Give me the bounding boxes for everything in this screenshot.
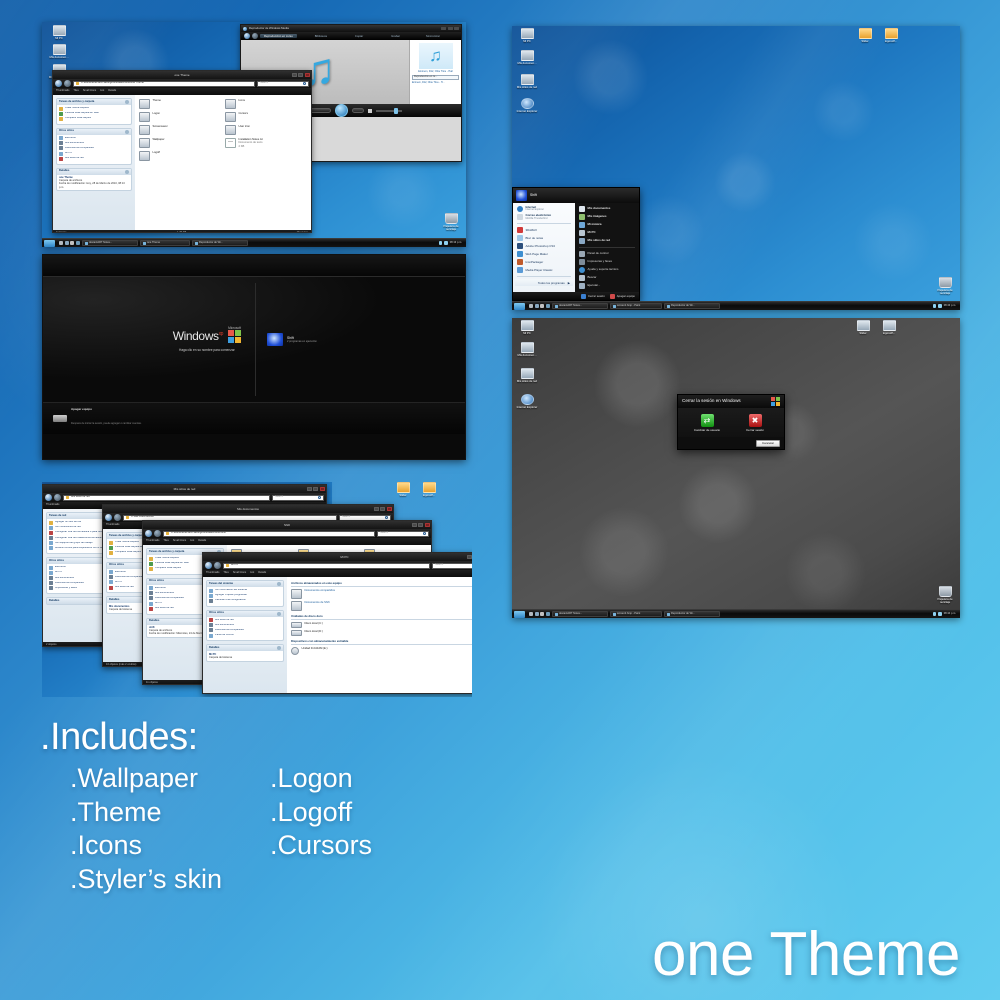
tray-icon[interactable] <box>938 612 942 616</box>
text-file-icon <box>225 138 236 148</box>
logoff-option[interactable]: ✖ Cerrar sesión <box>738 414 772 432</box>
documents-icon <box>521 50 534 61</box>
media-icon[interactable] <box>540 304 544 308</box>
logon-user-tile[interactable]: Shift 2 programas en ejecución <box>267 333 317 346</box>
tab-copiar[interactable]: Copiar <box>351 34 367 39</box>
drive-item[interactable]: Disco local (C:) <box>291 622 472 628</box>
includes-heading: .Includes: <box>40 718 372 756</box>
toolbar-tiles[interactable]: Tiles <box>223 572 228 575</box>
tab-grabar[interactable]: Grabar <box>387 34 404 39</box>
desktop-icon-mi-pc[interactable]: Mi PC <box>514 28 540 43</box>
task-item[interactable]: Ver información del sistema <box>209 589 281 593</box>
quick-launch[interactable] <box>529 304 550 308</box>
wmp-icon <box>195 242 198 245</box>
album-caption: Eminem, D12, Obie Trice - Hail <box>412 70 459 73</box>
back-icon[interactable] <box>145 530 152 537</box>
window-titlebar[interactable]: Mis documentos <box>103 505 393 513</box>
start-menu-username: Shift <box>530 194 537 197</box>
toolbar-thumbnails[interactable]: Thumbnails <box>46 504 59 507</box>
search-input[interactable]: Search <box>257 81 309 87</box>
logon-user-status: 2 programas en ejecución <box>287 340 317 343</box>
window-titlebar[interactable]: Mis sitios de red <box>43 485 326 493</box>
maximize-icon[interactable] <box>448 27 453 31</box>
folder-icon <box>397 482 410 493</box>
search-input[interactable]: Search <box>432 563 472 569</box>
start-item-web-page-maker[interactable]: Web Page Maker <box>515 250 573 258</box>
toolbar-thumbnails[interactable]: Thumbnails <box>56 90 69 93</box>
forward-icon[interactable] <box>54 494 61 501</box>
panel-title: Otros sitios <box>49 560 64 563</box>
address-bar[interactable]: Mi PC Search <box>203 561 472 570</box>
address-bar[interactable]: C:\Documents and Settings\Shift\Escritor… <box>53 79 311 88</box>
taskbar-button[interactable]: Reproductor de Wi... <box>192 240 248 246</box>
desktop-icon-internet-explorer[interactable]: Internet Explorer <box>514 98 540 113</box>
toolbar-tiles[interactable]: Tiles <box>163 540 168 543</box>
window-buttons[interactable] <box>292 73 310 77</box>
taskbar-button[interactable]: screen2.bmp - Paint <box>610 611 662 617</box>
desktop-icon-recycle-bin[interactable]: Papelera de reciclaje <box>932 277 958 295</box>
folder-icon <box>66 496 69 499</box>
search-placeholder: Search <box>435 564 443 567</box>
switch-user-option[interactable]: ⇄ Cambiar de usuario <box>690 414 724 432</box>
desktop-icon-mis-documentos[interactable]: Mis documen... <box>514 342 540 357</box>
place-item[interactable]: Documentos compartidos <box>209 628 281 632</box>
toolbar-tiles[interactable]: Tiles <box>73 90 78 93</box>
panel-title: Detalles <box>59 170 69 173</box>
toolbar-list[interactable]: List <box>250 572 254 575</box>
file-item[interactable]: Wallpaper <box>139 138 221 148</box>
maximize-icon[interactable] <box>298 73 303 77</box>
panel-title: Detalles <box>49 600 59 603</box>
taskbar[interactable]: deviantART Notes... screen2.bmp - Paint … <box>512 609 960 618</box>
tab-sincronizar[interactable]: Sincronizar <box>422 34 444 39</box>
playlist-selector[interactable]: Reproducción en cu... <box>412 75 459 80</box>
logoff-button[interactable]: Cerrar sesión <box>581 294 605 299</box>
wmp-window-buttons[interactable] <box>441 27 459 31</box>
file-item[interactable]: Screensaver <box>139 125 221 135</box>
explorer-task-pane: Tareas del sistema Ver información del s… <box>203 577 287 694</box>
start-item-ayuda-y-soporte[interactable]: Ayuda y soporte técnico <box>577 266 637 274</box>
window-title: Shift <box>284 524 290 527</box>
logoff-dialog-header: Cerrar la sesión en Windows <box>678 395 784 408</box>
task-item[interactable]: Agregar o quitar programas <box>209 594 281 598</box>
file-item[interactable]: Logon <box>139 112 221 122</box>
close-icon[interactable] <box>305 73 310 77</box>
file-label: User Icon <box>239 125 251 128</box>
window-buttons[interactable] <box>467 555 473 559</box>
back-icon[interactable] <box>244 33 250 39</box>
computer-icon <box>53 25 66 36</box>
system-tray[interactable]: 08:43 p.m. <box>933 304 958 308</box>
toolbar-small-icons[interactable]: Small Icons <box>83 90 96 93</box>
hard-disk-icon <box>291 622 302 628</box>
maximize-icon[interactable] <box>418 523 423 527</box>
start-item-3dsmax[interactable]: 3DsMAX <box>515 226 573 234</box>
taskbar-button[interactable]: deviantART Notes... <box>552 611 608 617</box>
folder-icon <box>857 320 870 331</box>
desktop-icon-recycle-bin[interactable]: Papelera de reciclaje <box>932 586 958 604</box>
address-input[interactable]: C:\Documents and Settings\Shift\Escritor… <box>163 531 375 537</box>
start-item-media-player-classic[interactable]: Media Player Classic <box>515 266 573 274</box>
back-icon[interactable] <box>45 494 52 501</box>
computer-icon <box>109 580 113 584</box>
desktop-icon-slider[interactable]: Slider <box>852 28 878 43</box>
toolbar-list[interactable]: List <box>100 90 104 93</box>
desktop-icon-mis-documentos[interactable]: Mis documen... <box>514 50 540 65</box>
panel-other-places: Otros sitios Escritorio Mis documentos D… <box>56 128 132 165</box>
file-item[interactable]: Theme <box>139 99 221 109</box>
collapse-icon[interactable] <box>277 612 281 616</box>
file-label: Logon <box>153 112 160 115</box>
taskbar-button[interactable]: deviantART Notes... <box>82 240 138 246</box>
tab-reproduccion-en-curso[interactable]: Reproducción en curso <box>260 34 297 39</box>
ie-icon[interactable] <box>535 304 539 308</box>
address-bar[interactable]: Mis sitios de red Search <box>43 493 326 502</box>
wmp-tabbar[interactable]: Reproducción en curso Biblioteca Copiar … <box>241 32 461 40</box>
file-item-text[interactable]: Installation Notes.txt Documento de text… <box>225 138 307 148</box>
window-title: one Theme <box>174 74 189 77</box>
playlist-selector-label: Reproducción en cu... <box>414 76 437 78</box>
logoff-icon <box>581 294 586 299</box>
volume-slider[interactable] <box>376 110 402 112</box>
file-label: Cursors <box>239 112 248 115</box>
quick-launch[interactable] <box>529 612 550 616</box>
close-icon[interactable] <box>454 27 459 31</box>
app-icon[interactable] <box>546 612 550 616</box>
taskbar[interactable]: deviantART Notes... screen1.bmp - Paint … <box>512 301 960 310</box>
taskbar[interactable]: deviantART Notes... one Theme Reproducto… <box>42 238 466 247</box>
place-item[interactable]: Mis sitios de red <box>59 157 129 161</box>
desktop-icon-slider[interactable]: Slider <box>390 482 416 497</box>
collapse-icon[interactable] <box>125 100 129 104</box>
shutdown-button[interactable]: Apagar equipo <box>610 294 635 299</box>
tray-icon[interactable] <box>439 241 443 245</box>
cancel-button[interactable]: Cancelar <box>756 440 780 447</box>
panel-details: Detalles one Theme Carpeta de archivos F… <box>56 168 132 192</box>
start-item-all-programs[interactable]: Todos los programas ▶ <box>515 279 573 286</box>
tray-icon[interactable] <box>938 304 942 308</box>
task-item[interactable]: Compartir esta carpeta <box>59 117 129 121</box>
music-icon <box>579 222 585 228</box>
show-desktop-icon[interactable] <box>59 241 63 245</box>
minimize-icon[interactable] <box>412 523 417 527</box>
desktop-icon-logonoff[interactable]: logonoff... <box>416 482 442 497</box>
panel-title: Tareas de archivo y carpeta <box>109 535 144 538</box>
window-titlebar[interactable]: Shift <box>143 521 431 529</box>
close-icon[interactable] <box>320 487 325 491</box>
start-item-photoshop[interactable]: Adobe Photoshop CS3 <box>515 242 573 250</box>
file-label: Icons <box>239 99 245 102</box>
toolbar-list[interactable]: List <box>190 540 194 543</box>
file-item[interactable]: User Icon <box>225 125 307 135</box>
search-icon <box>385 516 388 519</box>
switch-user-icon: ⇄ <box>701 414 714 427</box>
panel-title: Otros sitios <box>149 580 164 583</box>
task-item[interactable]: Crear nueva carpeta <box>59 107 129 111</box>
start-item-mis-imagenes[interactable]: Mis imágenes <box>577 213 637 221</box>
wmp-titlebar[interactable]: Reproductor de Windows Media <box>241 25 461 32</box>
minimize-icon[interactable] <box>292 73 297 77</box>
documents-icon <box>149 591 153 595</box>
place-item[interactable]: Mis sitios de red <box>209 618 281 622</box>
maximize-icon[interactable] <box>313 487 318 491</box>
app-icon[interactable] <box>546 304 550 308</box>
workgroup-icon <box>49 541 53 545</box>
desktop-icon-mis-sitios-de-red[interactable]: Mis sitios de red <box>514 368 540 383</box>
playlist-track[interactable]: Eminem, D12, Obie Trice - H... <box>412 82 459 85</box>
taskbar-button[interactable]: Reproductor de Wi... <box>664 303 720 309</box>
start-button[interactable] <box>514 611 525 618</box>
panel-title: Otros sitios <box>59 130 74 133</box>
windows-brand: Microsoft Windowsxp Haga clic en su nomb… <box>173 327 241 353</box>
explorer-file-list[interactable]: Theme Icons Logon Cursors Screensaver Us… <box>135 95 311 230</box>
logoff-icon: ✖ <box>749 414 762 427</box>
wireless-network-icon <box>49 536 53 540</box>
toolbar-thumbnails[interactable]: Thumbnails <box>206 572 219 575</box>
desktop-icon-logonoff[interactable]: logonoff... <box>878 28 904 43</box>
start-menu-header: Shift <box>513 188 639 203</box>
wmp-playlist-pane[interactable]: ♫ Eminem, D12, Obie Trice - Hail Reprodu… <box>409 40 461 104</box>
share-icon <box>59 117 63 121</box>
minimize-icon[interactable] <box>374 507 379 511</box>
panel-title: Otros sitios <box>209 612 224 615</box>
address-bar[interactable]: C:\Documents and Settings\Shift\Escritor… <box>143 529 431 538</box>
status-size: 1.25 KB <box>177 232 186 233</box>
window-buttons[interactable] <box>374 507 392 511</box>
taskbar-button[interactable]: Reproductor de Wi... <box>664 611 720 617</box>
tray-icon[interactable] <box>444 241 448 245</box>
place-item[interactable]: Panel de control <box>209 634 281 638</box>
search-input[interactable]: Search <box>377 531 429 537</box>
drive-item[interactable]: Documentos de Shift <box>291 601 472 611</box>
toolbar-details[interactable]: Details <box>198 540 206 543</box>
place-item[interactable]: Mi PC <box>59 152 129 156</box>
avatar[interactable] <box>516 190 527 201</box>
address-input[interactable]: Mis sitios de red <box>63 495 270 501</box>
includes-block: .Includes: .Wallpaper .Theme .Icons .Sty… <box>40 718 372 895</box>
app-icon[interactable] <box>76 241 80 245</box>
desktop-icon-mi-pc[interactable]: Mi PC <box>514 320 540 335</box>
screenshot-logon: Microsoft Windowsxp Haga clic en su nomb… <box>42 254 466 460</box>
3dsmax-icon <box>517 227 523 233</box>
taskbar-button[interactable]: deviantART Notes... <box>552 303 608 309</box>
minimize-icon[interactable] <box>441 27 446 31</box>
start-item-iconpackager[interactable]: IconPackager <box>515 258 573 266</box>
start-item-mi-musica[interactable]: Mi música <box>577 221 637 229</box>
paint-icon <box>613 305 616 308</box>
drive-item[interactable]: Documentos compartidos <box>291 589 472 599</box>
next-icon[interactable] <box>352 108 364 113</box>
folder-icon <box>76 82 79 85</box>
ie-icon[interactable] <box>535 612 539 616</box>
drive-item[interactable]: Unidad D-D-RAM (E:) <box>291 647 472 655</box>
place-item[interactable]: Mis documentos <box>59 141 129 145</box>
folder-icon <box>885 28 898 39</box>
home-network-icon <box>49 531 53 535</box>
tray-icon[interactable] <box>933 612 937 616</box>
window-title: Mi PC <box>340 556 348 559</box>
address-value: C:\Documents and Settings\Shift\Escritor… <box>81 82 144 85</box>
maximize-icon[interactable] <box>380 507 385 511</box>
folder-icon <box>166 532 169 535</box>
mute-icon[interactable] <box>368 109 372 113</box>
toolbar-small-icons[interactable]: Small Icons <box>233 572 246 575</box>
toolbar-details[interactable]: Details <box>108 90 116 93</box>
start-item-ejecutar[interactable]: Ejecutar... <box>577 282 637 290</box>
media-icon[interactable] <box>70 241 74 245</box>
place-item[interactable]: Mis documentos <box>209 623 281 627</box>
file-item[interactable]: Icons <box>225 99 307 109</box>
item-label: Disco local (D:) <box>305 630 323 633</box>
screenshot-cascade: Slider logonoff... Mis sitios de red Mis… <box>42 482 472 697</box>
logon-brand-area: Microsoft Windowsxp Haga clic en su nomb… <box>43 277 253 402</box>
toolbar-thumbnails[interactable]: Thumbnails <box>146 540 159 543</box>
show-desktop-icon[interactable] <box>529 612 533 616</box>
forward-icon[interactable] <box>214 562 221 569</box>
forward-icon[interactable] <box>114 514 121 521</box>
logon-footer-title: Apagar equipo <box>71 408 142 412</box>
tab-biblioteca[interactable]: Biblioteca <box>311 34 331 39</box>
documents-icon <box>209 623 213 627</box>
window-titlebar[interactable]: one Theme <box>53 71 311 79</box>
address-input[interactable]: Mi PC <box>223 563 430 569</box>
taskbar-button[interactable]: screen1.bmp - Paint <box>610 303 662 309</box>
search-input[interactable]: Search <box>272 495 324 501</box>
desktop-icon-logonoff[interactable]: logonoff... <box>876 320 902 335</box>
collapse-icon[interactable] <box>277 582 281 586</box>
collapse-icon[interactable] <box>125 130 129 134</box>
new-folder-icon <box>109 541 113 545</box>
separator <box>517 276 571 277</box>
toolbar-details[interactable]: Details <box>258 572 266 575</box>
desktop-icon-internet-explorer[interactable]: Internet Explorer <box>514 394 540 409</box>
task-item[interactable]: Cambiar una configuración <box>209 599 281 603</box>
address-input[interactable]: C:\Documents and Settings\Shift\Escritor… <box>73 81 255 87</box>
ie-icon[interactable] <box>65 241 69 245</box>
system-tray[interactable]: 08:44 p.m. <box>933 612 958 616</box>
brand-windows: Windows <box>173 329 219 343</box>
media-icon[interactable] <box>540 612 544 616</box>
desktop-icon-slider[interactable]: Slider <box>850 320 876 335</box>
panel-body: Escritorio Mis documentos Documentos com… <box>57 135 131 164</box>
includes-item-wallpaper: .Wallpaper <box>70 764 222 794</box>
shutdown-icon[interactable] <box>53 415 67 422</box>
shared-documents-icon <box>209 628 213 632</box>
start-item-correo[interactable]: Correo electrónico Mozilla Thunderbird <box>515 213 573 221</box>
close-icon[interactable] <box>425 523 430 527</box>
shared-documents-icon <box>49 581 53 585</box>
desktop-icon-recycle-bin[interactable]: Papelera de reciclaje <box>438 213 464 231</box>
minimize-icon[interactable] <box>307 487 312 491</box>
file-item[interactable]: Cursors <box>225 112 307 122</box>
view-toolbar[interactable]: Thumbnails Tiles Small Icons List Detail… <box>143 538 431 545</box>
forward-icon[interactable] <box>252 33 258 39</box>
printers-icon <box>49 586 53 590</box>
desktop-icon-mis-sitios-de-red[interactable]: Mis sitios de red <box>514 74 540 89</box>
network-icon <box>59 157 63 161</box>
show-desktop-icon[interactable] <box>529 304 533 308</box>
start-item-internet[interactable]: Internet Internet Explorer <box>515 205 573 213</box>
start-item-bloc-de-notas[interactable]: Bloc de notas <box>515 234 573 242</box>
details-type: Carpeta del sistema <box>209 656 281 659</box>
toolbar-small-icons[interactable]: Small Icons <box>173 540 186 543</box>
start-button[interactable] <box>44 240 55 247</box>
collapse-icon[interactable] <box>125 170 129 174</box>
toolbar-thumbnails[interactable]: Thumbnails <box>106 524 119 527</box>
view-toolbar[interactable]: Thumbnails Tiles Small Icons List Detail… <box>203 570 472 577</box>
desktop-icon-label: Mis documen... <box>514 354 540 357</box>
play-pause-icon[interactable] <box>335 104 348 117</box>
explorer-window-one-theme[interactable]: one Theme C:\Documents and Settings\Shif… <box>52 70 312 233</box>
desktop-icon-mi-pc[interactable]: Mi PC <box>46 25 72 40</box>
panel-title: Tareas de red <box>49 515 66 518</box>
taskbar-button[interactable]: one Theme <box>140 240 190 246</box>
window-buttons[interactable] <box>307 487 325 491</box>
start-item-mis-documentos[interactable]: Mis documentos <box>577 205 637 213</box>
desktop-icon <box>109 570 113 574</box>
start-menu[interactable]: Shift Internet Internet Explorer Corr <box>512 187 640 301</box>
window-body: Tareas de archivo y carpeta Crear nueva … <box>53 95 311 230</box>
folder-icon <box>139 151 150 161</box>
file-item[interactable]: Logoff <box>139 151 221 161</box>
quick-launch[interactable] <box>59 241 80 245</box>
minimize-icon[interactable] <box>467 555 472 559</box>
start-button[interactable] <box>514 303 525 310</box>
back-icon[interactable] <box>205 562 212 569</box>
avatar <box>267 333 283 346</box>
tray-icon[interactable] <box>933 304 937 308</box>
window-titlebar[interactable]: Mi PC <box>203 553 472 561</box>
address-value: C:\Mis Documentos <box>131 516 154 519</box>
option-label: Cerrar sesión <box>738 429 772 432</box>
forward-icon[interactable] <box>154 530 161 537</box>
logoff-dialog[interactable]: Cerrar la sesión en Windows ⇄ Cambiar de… <box>677 394 785 450</box>
view-toolbar[interactable]: Thumbnails Tiles Small Icons List Detail… <box>53 88 311 95</box>
start-item-mis-sitios-de-red[interactable]: Mis sitios de red <box>577 237 637 245</box>
paint-icon <box>613 613 616 616</box>
forward-icon[interactable] <box>64 80 71 87</box>
settings-icon <box>209 599 213 603</box>
file-size: 2 KB <box>239 145 263 148</box>
task-item[interactable]: Publicar esta carpeta en Web <box>59 112 129 116</box>
back-icon[interactable] <box>55 80 62 87</box>
desktop-icon-mis-documentos[interactable]: Mis documen... <box>46 44 72 59</box>
explorer-window-mi-pc[interactable]: Mi PC Mi PC Search Thumbnails Tiles Smal… <box>202 552 472 694</box>
system-tray[interactable]: 08:13 p.m. <box>439 241 464 245</box>
share-icon <box>149 567 153 571</box>
place-item[interactable]: Escritorio <box>59 136 129 140</box>
explorer-file-list[interactable]: Archivos almacenados en este equipo Docu… <box>287 577 472 694</box>
place-item[interactable]: Documentos compartidos <box>59 146 129 150</box>
panel-system-tasks: Tareas del sistema Ver información del s… <box>206 580 284 607</box>
collapse-icon[interactable] <box>277 646 281 650</box>
start-item-buscar[interactable]: Buscar <box>577 274 637 282</box>
panel-body: one Theme Carpeta de archivos Fecha de m… <box>57 175 131 191</box>
start-item-panel-de-control[interactable]: Panel de control <box>577 250 637 258</box>
start-item-mi-pc[interactable]: Mi PC <box>577 229 637 237</box>
start-item-impresoras-y-faxes[interactable]: Impresoras y faxes <box>577 258 637 266</box>
documents-icon <box>291 601 302 611</box>
window-buttons[interactable] <box>412 523 430 527</box>
documents-icon <box>49 576 53 580</box>
address-value: C:\Documents and Settings\Shift\Escritor… <box>171 532 226 535</box>
status-location: Mi equipo <box>297 232 308 233</box>
close-icon[interactable] <box>387 507 392 511</box>
drive-item[interactable]: Disco local (D:) <box>291 630 472 636</box>
back-icon[interactable] <box>105 514 112 521</box>
search-icon <box>579 275 585 281</box>
search-placeholder: Search <box>275 496 283 499</box>
